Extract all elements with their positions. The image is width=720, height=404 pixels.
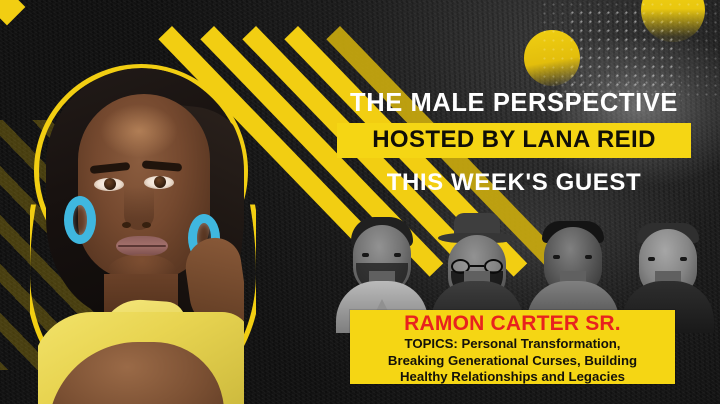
guest-eye-right [394, 253, 401, 257]
host-photo-image [38, 68, 244, 404]
guest-topics-line-3: Healthy Relationships and Legacies [350, 368, 675, 385]
guest-eye-right [585, 255, 592, 259]
host-lip-line [118, 245, 166, 247]
show-title: THE MALE PERSPECTIVE [337, 90, 691, 117]
host-iris-right [154, 176, 166, 188]
host-iris-left [104, 178, 116, 190]
host-name-text: HOSTED BY LANA REID [337, 128, 691, 152]
guest-topics-line-2: Breaking Generational Curses, Building [350, 352, 675, 369]
headline-block: THE MALE PERSPECTIVE HOSTED BY LANA REID… [337, 90, 691, 197]
guest-eye-left [648, 257, 655, 261]
host-nostril-left [122, 222, 131, 228]
guest-eye-right [680, 257, 687, 261]
guest-eye-left [362, 253, 369, 257]
guest-topics-line-1: TOPICS: Personal Transformation, [350, 335, 675, 352]
video-thumbnail-poster: THE MALE PERSPECTIVE HOSTED BY LANA REID… [0, 0, 720, 404]
guest-eye-left [553, 255, 560, 259]
guest-label: THIS WEEK'S GUEST [337, 169, 691, 197]
dot-overlay-on-circles [540, 0, 720, 96]
host-face-highlight [100, 104, 178, 158]
host-band: HOSTED BY LANA REID [337, 123, 691, 158]
guest-info-card: RAMON CARTER SR. TOPICS: Personal Transf… [350, 310, 675, 384]
guest-hat-crown [454, 213, 500, 235]
guest-name: RAMON CARTER SR. [350, 313, 675, 335]
host-earring-left [64, 196, 96, 244]
host-portrait [0, 56, 292, 404]
host-nostril-right [142, 222, 151, 228]
